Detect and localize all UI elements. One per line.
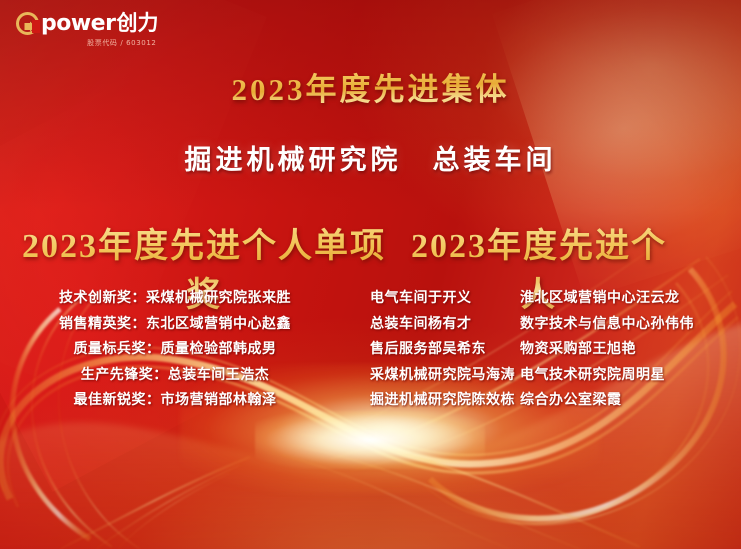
individual-special-award-list: 技术创新奖：采煤机械研究院张来胜 销售精英奖：东北区域营销中心赵鑫 质量标兵奖：…	[0, 286, 350, 414]
list-item: 最佳新锐奖：市场营销部林翰泽	[0, 388, 350, 414]
stock-code-label: 股票代码 / 603012	[87, 38, 156, 48]
logo-wordmark: power	[41, 12, 115, 35]
individual-award-list: 电气车间于开义 淮北区域营销中心汪云龙 总装车间杨有才 数字技术与信息中心孙伟伟…	[370, 286, 730, 414]
award-recipient-left: 掘进机械研究院陈效栋	[370, 388, 520, 414]
award-recipient-right: 淮北区域营销中心汪云龙	[520, 286, 730, 312]
award-recipient-right: 综合办公室梁霞	[520, 388, 730, 414]
award-recipient-right: 数字技术与信息中心孙伟伟	[520, 312, 730, 338]
award-recipient-left: 电气车间于开义	[370, 286, 520, 312]
list-item: 质量标兵奖：质量检验部韩成男	[0, 337, 350, 363]
list-item: 技术创新奖：采煤机械研究院张来胜	[0, 286, 350, 312]
award-recipient-left: 采煤机械研究院马海涛	[370, 363, 520, 389]
award-recipient-left: 售后服务部吴希东	[370, 337, 520, 363]
logo-wordmark-cn: 创力	[116, 12, 158, 35]
table-row: 采煤机械研究院马海涛 电气技术研究院周明星	[370, 363, 730, 389]
list-item: 生产先锋奖：总装车间王浩杰	[0, 363, 350, 389]
logo-lockup: power 创力	[16, 12, 158, 35]
award-recipient-right: 物资采购部王旭艳	[520, 337, 730, 363]
collective-award-recipients: 掘进机械研究院 总装车间	[0, 138, 741, 177]
table-row: 售后服务部吴希东 物资采购部王旭艳	[370, 337, 730, 363]
circle-plug-logo-icon	[16, 12, 39, 35]
collective-award-title: 2023年度先进集体	[0, 64, 741, 109]
table-row: 电气车间于开义 淮北区域营销中心汪云龙	[370, 286, 730, 312]
table-row: 总装车间杨有才 数字技术与信息中心孙伟伟	[370, 312, 730, 338]
table-row: 掘进机械研究院陈效栋 综合办公室梁霞	[370, 388, 730, 414]
list-item: 销售精英奖：东北区域营销中心赵鑫	[0, 312, 350, 338]
awards-poster: power 创力 股票代码 / 603012 2023年度先进集体 掘进机械研究…	[0, 0, 741, 549]
award-recipient-left: 总装车间杨有才	[370, 312, 520, 338]
award-recipient-right: 电气技术研究院周明星	[520, 363, 730, 389]
company-logo[interactable]: power 创力 股票代码 / 603012	[16, 12, 158, 48]
